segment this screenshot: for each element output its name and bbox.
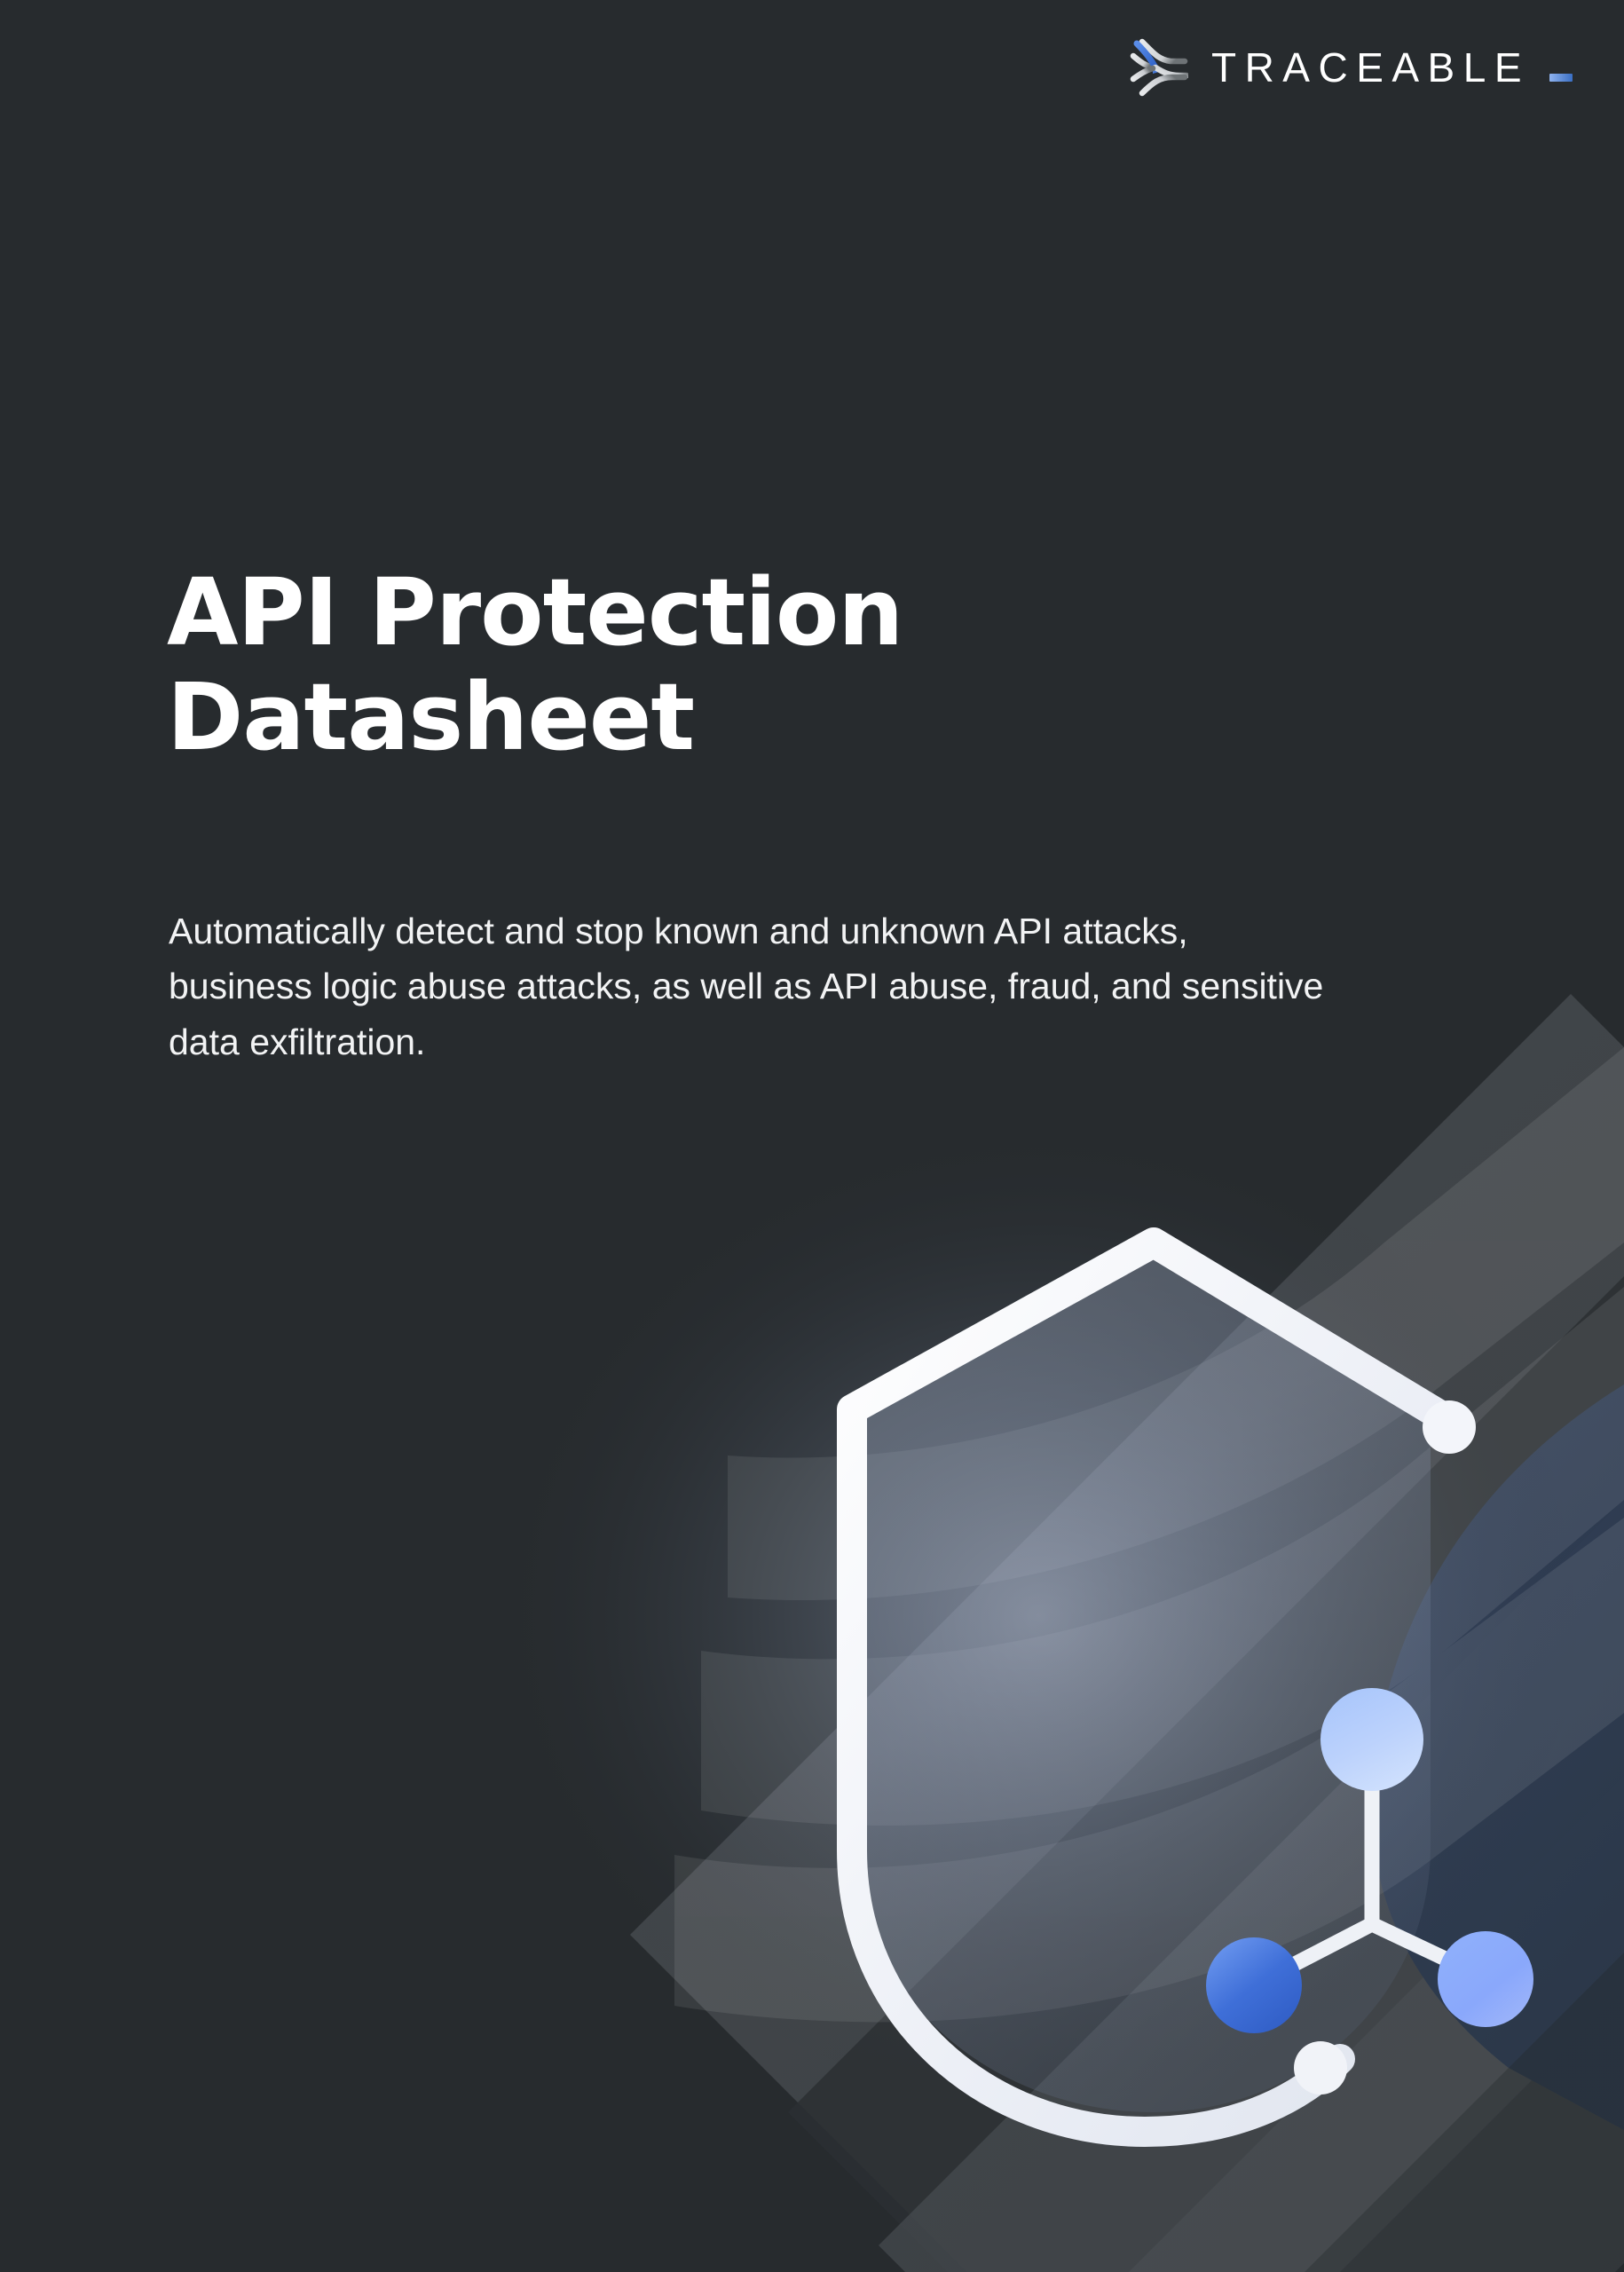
traceable-logo-mark-icon	[1123, 35, 1188, 100]
page-subtitle: Automatically detect and stop known and …	[169, 903, 1340, 1069]
datasheet-cover-page: TRACEABLE API Protection Datasheet Autom…	[0, 0, 1624, 2272]
background-artwork	[0, 0, 1624, 2272]
page-title: API Protection Datasheet	[167, 561, 1054, 769]
traceable-logo: TRACEABLE	[1123, 34, 1573, 101]
logo-underscore-icon	[1549, 74, 1573, 82]
logo-wordmark: TRACEABLE	[1211, 47, 1530, 88]
